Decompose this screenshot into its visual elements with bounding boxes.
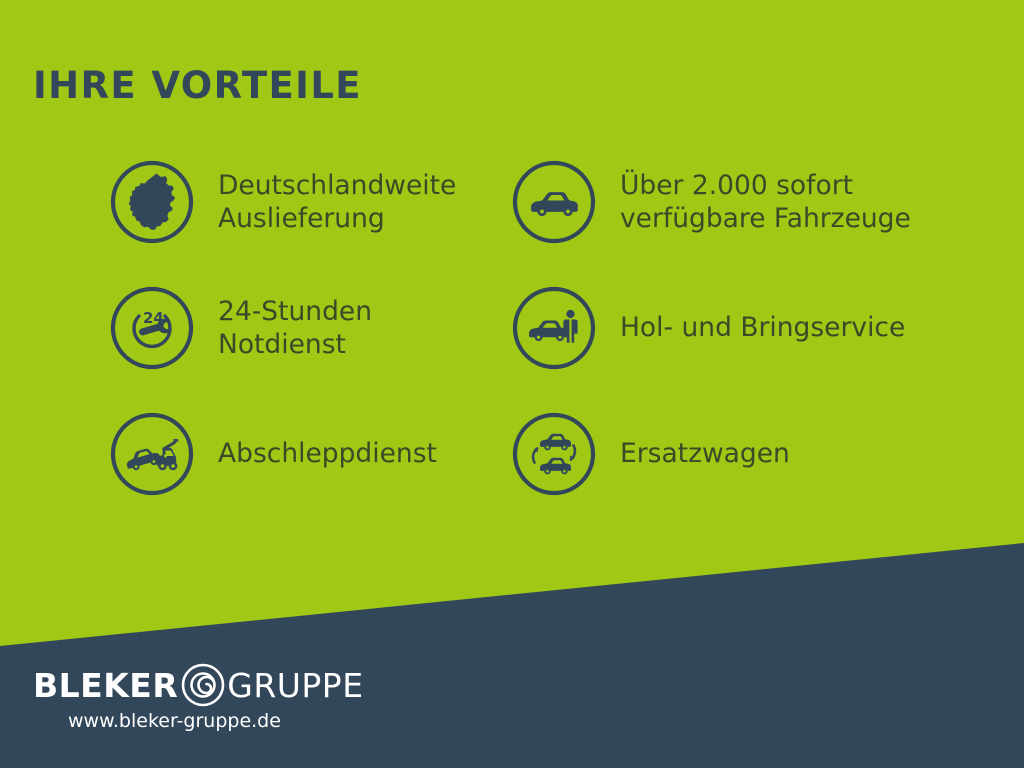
benefit-item-abschleppdienst: Abschleppdienst bbox=[110, 412, 510, 496]
benefit-label: Über 2.000 sofort verfügbare Fahrzeuge bbox=[620, 169, 911, 235]
benefit-label: 24-Stunden Notdienst bbox=[218, 295, 372, 361]
logo-word-gruppe: GRUPPE bbox=[227, 666, 363, 705]
benefit-item-ueber-2000-fahrzeuge: Über 2.000 sofort verfügbare Fahrzeuge bbox=[512, 160, 1012, 244]
logo-word-bleker: BLEKER bbox=[33, 666, 178, 705]
website-url: www.bleker-gruppe.de bbox=[68, 710, 281, 732]
benefit-item-deutschlandweite-auslieferung: Deutschlandweite Auslieferung bbox=[110, 160, 510, 244]
two-cars-swap-icon bbox=[512, 412, 596, 496]
footer: BLEKER GRUPPE www.bleker-gruppe.de bbox=[0, 648, 1024, 768]
benefit-label: Abschleppdienst bbox=[218, 437, 437, 470]
benefit-label: Deutschlandweite Auslieferung bbox=[218, 169, 456, 235]
towed-car-shape bbox=[124, 446, 162, 473]
benefit-item-ersatzwagen: Ersatzwagen bbox=[512, 412, 1012, 496]
benefit-item-24-stunden-notdienst: 24 24-Stunden Notdienst bbox=[110, 286, 510, 370]
24-hour-wrench-icon: 24 bbox=[110, 286, 194, 370]
germany-map-icon bbox=[110, 160, 194, 244]
benefit-item-hol-und-bringservice: Hol- und Bringservice bbox=[512, 286, 1012, 370]
spiral-circle-icon bbox=[180, 662, 226, 708]
benefit-label: Hol- und Bringservice bbox=[620, 311, 905, 344]
brand-logo: BLEKER GRUPPE bbox=[33, 662, 364, 708]
tow-truck-icon bbox=[110, 412, 194, 496]
slide-canvas: IHRE VORTEILE Deutschlandweite Ausliefer… bbox=[0, 0, 1024, 768]
benefit-label: Ersatzwagen bbox=[620, 437, 790, 470]
car-icon bbox=[512, 160, 596, 244]
car-with-person-icon bbox=[512, 286, 596, 370]
